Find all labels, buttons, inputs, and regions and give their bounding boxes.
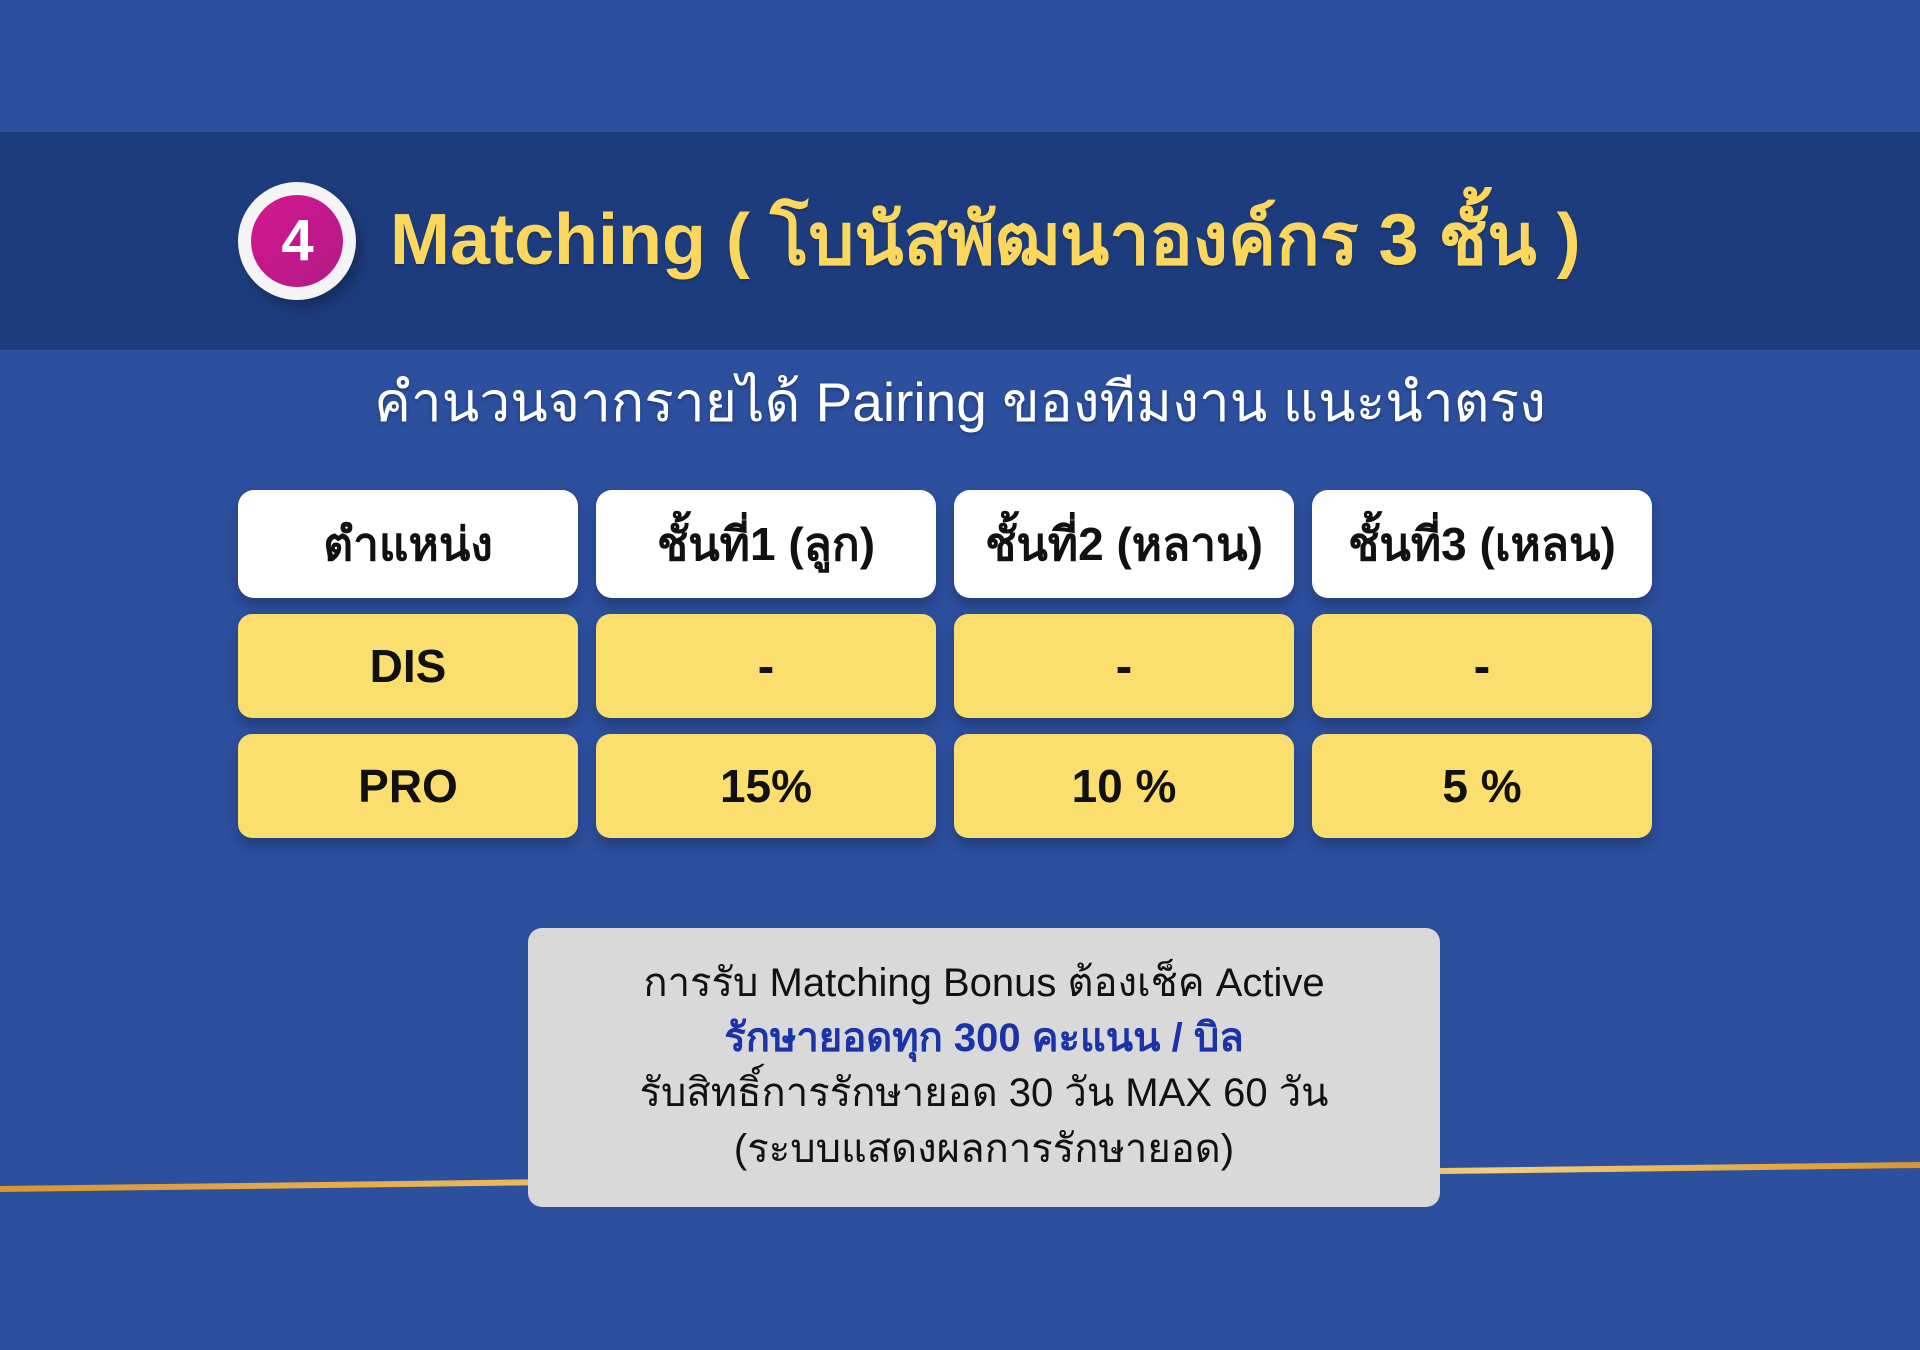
table-row: DIS - - - [238,614,1638,718]
slide-root: 4 Matching ( โบนัสพัฒนาองค์กร 3 ชั้น ) ค… [0,0,1920,1350]
note-line-3: รับสิทธิ์การรักษายอด 30 วัน MAX 60 วัน [552,1066,1416,1121]
matching-table: ตำแหน่ง ชั้นที่1 (ลูก) ชั้นที่2 (หลาน) ช… [238,490,1638,854]
background-band-top [0,0,1920,132]
cell-position-dis: DIS [238,614,578,718]
table-header-tier3: ชั้นที่3 (เหลน) [1312,490,1652,598]
step-badge-number: 4 [251,195,343,287]
table-header-tier2: ชั้นที่2 (หลาน) [954,490,1294,598]
step-badge: 4 [238,182,356,300]
cell-dis-tier1: - [596,614,936,718]
note-line-1: การรับ Matching Bonus ต้องเช็ค Active [552,956,1416,1011]
table-header-tier1: ชั้นที่1 (ลูก) [596,490,936,598]
table-row: PRO 15% 10 % 5 % [238,734,1638,838]
cell-pro-tier3: 5 % [1312,734,1652,838]
cell-position-pro: PRO [238,734,578,838]
note-line-4: (ระบบแสดงผลการรักษายอด) [552,1122,1416,1177]
step-badge-ring: 4 [238,182,356,300]
cell-dis-tier3: - [1312,614,1652,718]
note-box: การรับ Matching Bonus ต้องเช็ค Active รั… [528,928,1440,1207]
cell-pro-tier1: 15% [596,734,936,838]
page-subtitle: คำนวนจากรายได้ Pairing ของทีมงาน แนะนำตร… [0,372,1920,433]
slide-header: 4 Matching ( โบนัสพัฒนาองค์กร 3 ชั้น ) [0,132,1920,350]
table-header-position: ตำแหน่ง [238,490,578,598]
table-header-row: ตำแหน่ง ชั้นที่1 (ลูก) ชั้นที่2 (หลาน) ช… [238,490,1638,598]
cell-dis-tier2: - [954,614,1294,718]
page-title: Matching ( โบนัสพัฒนาองค์กร 3 ชั้น ) [390,203,1581,279]
note-line-2-highlight: รักษายอดทุก 300 คะแนน / บิล [552,1011,1416,1066]
cell-pro-tier2: 10 % [954,734,1294,838]
